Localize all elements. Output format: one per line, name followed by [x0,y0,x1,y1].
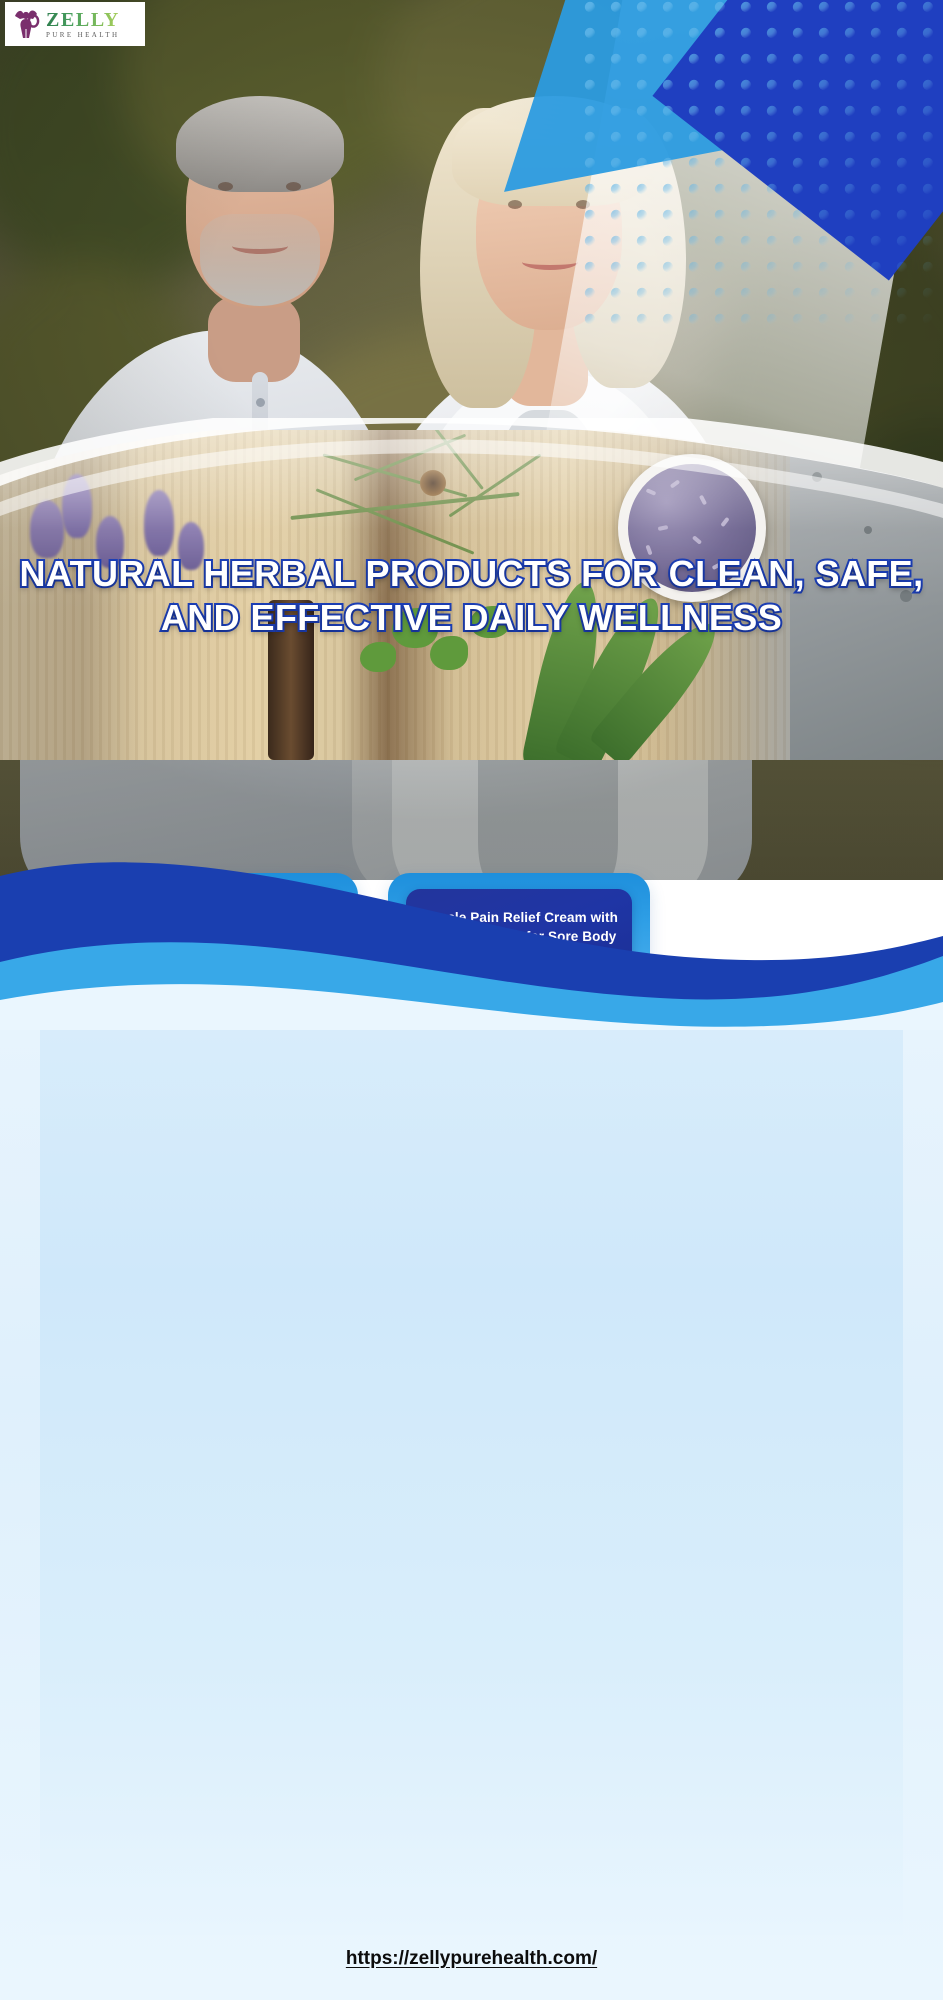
decor-white-arc [0,418,943,538]
person-leaping-icon [11,7,41,41]
infographic-page: ZELLY PURE HEALTH [0,0,943,2000]
website-link[interactable]: https://zellypurehealth.com/ [346,1948,597,1969]
content-panel-inner [40,995,903,1935]
logo-wordmark: ZELLY [46,10,120,30]
wave-divider [0,840,943,1030]
hero-title-wrap: NATURAL HERBAL PRODUCTS FOR CLEAN, SAFE,… [0,552,943,640]
page-title: NATURAL HERBAL PRODUCTS FOR CLEAN, SAFE,… [18,552,925,640]
brand-logo[interactable]: ZELLY PURE HEALTH [5,2,145,46]
decor-dot-pattern [583,0,943,330]
content-panel [0,995,943,2000]
logo-tagline: PURE HEALTH [46,32,120,39]
footer-url-wrap: https://zellypurehealth.com/ [0,1948,943,1970]
